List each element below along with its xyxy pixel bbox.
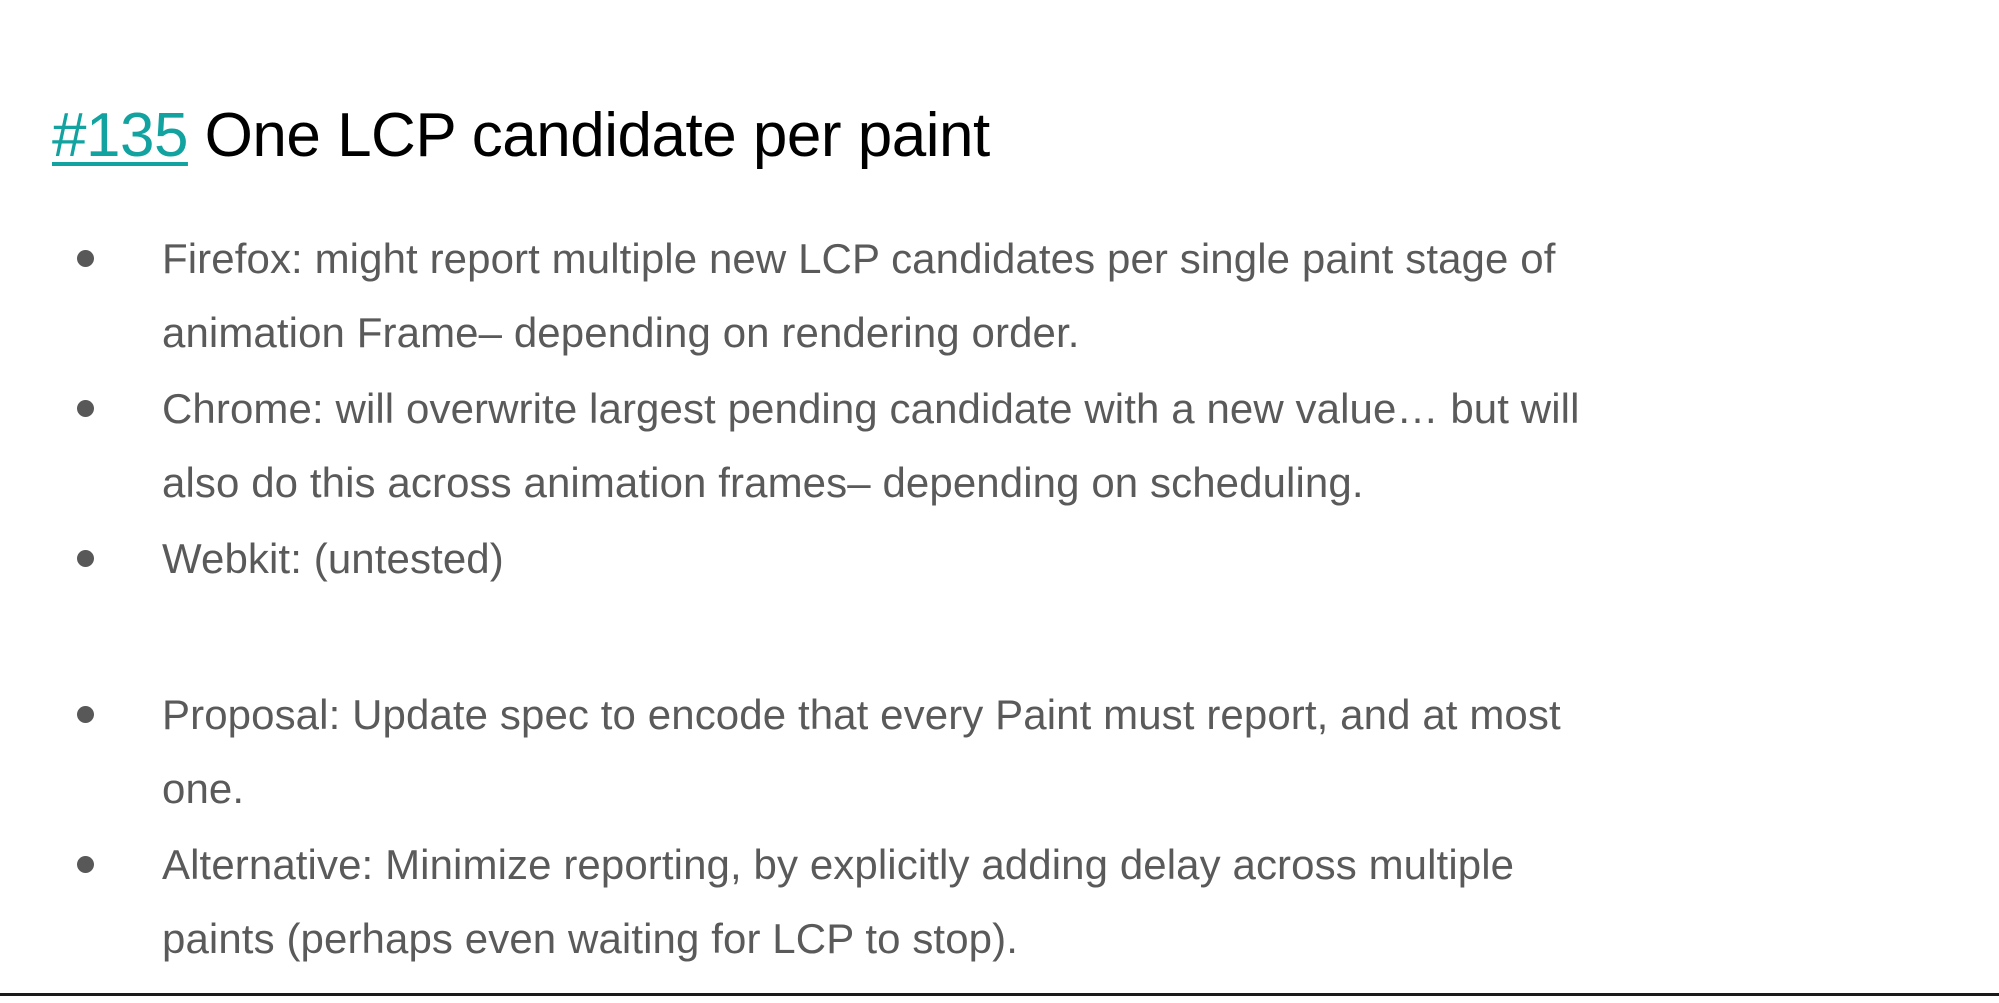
page-title-text: One LCP candidate per paint bbox=[188, 101, 990, 170]
list-item-label: Alternative: Minimize reporting, by expl… bbox=[162, 828, 1602, 976]
bullet-marker-icon bbox=[77, 706, 94, 723]
list-item-webkit: Webkit: (untested) bbox=[52, 522, 1952, 596]
list-item-label: Chrome: will overwrite largest pending c… bbox=[162, 372, 1602, 520]
list-item-firefox: Firefox: might report multiple new LCP c… bbox=[52, 222, 1952, 370]
slide-bottom-divider bbox=[0, 993, 1999, 996]
list-item-label: Firefox: might report multiple new LCP c… bbox=[162, 222, 1602, 370]
bullet-marker-icon bbox=[77, 550, 94, 567]
bullet-marker-icon bbox=[77, 250, 94, 267]
list-item-label: Webkit: (untested) bbox=[162, 522, 1602, 596]
list-item-alternative: Alternative: Minimize reporting, by expl… bbox=[52, 828, 1952, 976]
page-title: #135 One LCP candidate per paint bbox=[52, 98, 1932, 174]
list-item-label: Proposal: Update spec to encode that eve… bbox=[162, 678, 1602, 826]
list-item-proposal: Proposal: Update spec to encode that eve… bbox=[52, 678, 1952, 826]
list-item-chrome: Chrome: will overwrite largest pending c… bbox=[52, 372, 1952, 520]
bullet-marker-icon bbox=[77, 400, 94, 417]
bullet-marker-icon bbox=[77, 856, 94, 873]
bullet-list: Firefox: might report multiple new LCP c… bbox=[52, 222, 1952, 978]
slide: #135 One LCP candidate per paint Firefox… bbox=[0, 0, 1999, 1003]
list-item-spacer bbox=[52, 598, 1952, 676]
issue-link-135[interactable]: #135 bbox=[52, 101, 188, 170]
